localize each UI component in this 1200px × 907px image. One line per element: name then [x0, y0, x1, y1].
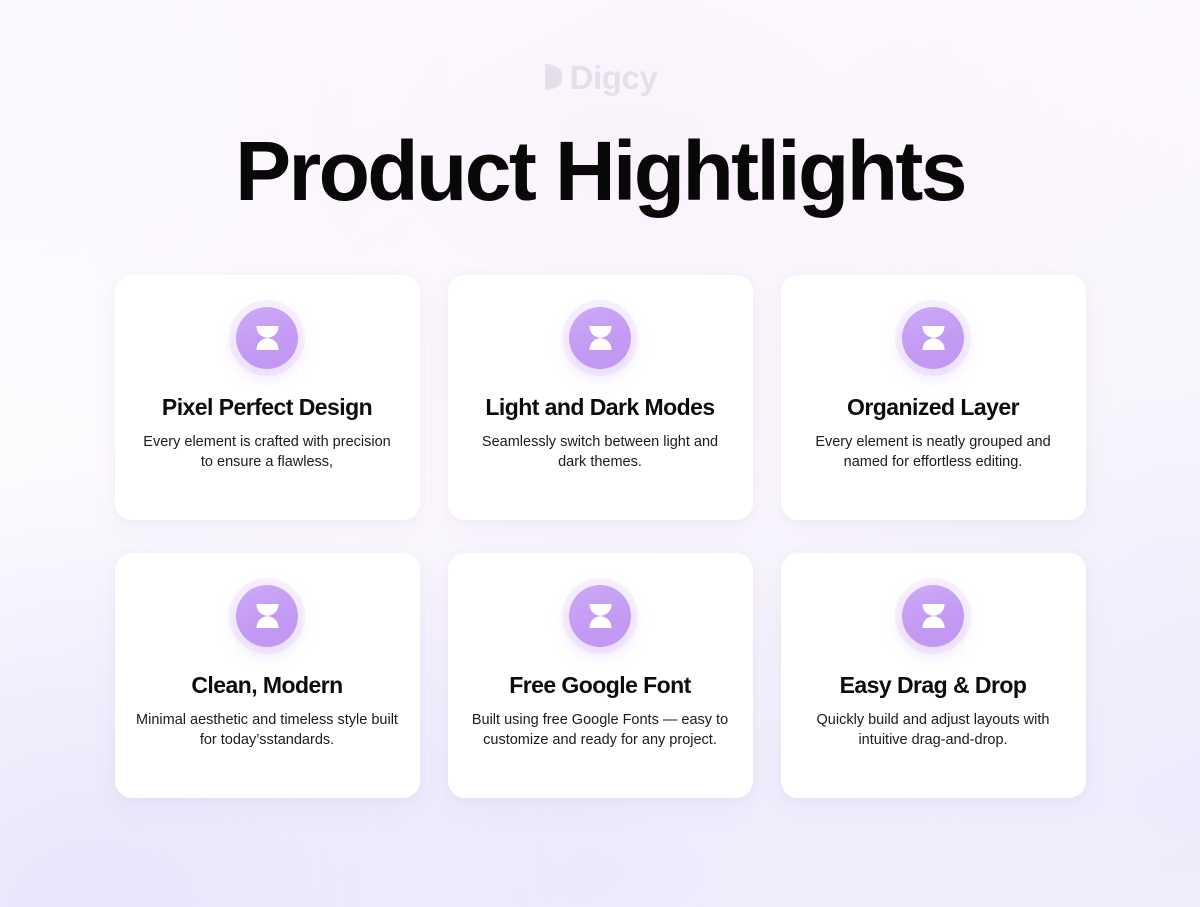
feature-card[interactable]: Pixel Perfect Design Every element is cr…	[115, 275, 420, 520]
feature-card-title: Free Google Font	[509, 672, 691, 698]
feature-card-description: Seamlessly switch between light and dark…	[469, 433, 731, 472]
feature-card-description: Every element is crafted with precision …	[136, 433, 398, 472]
page-root: Digcy Product Hightlights Pixel Perfect …	[0, 0, 1200, 907]
feature-card-description: Every element is neatly grouped and name…	[802, 433, 1064, 472]
feature-card-title: Clean, Modern	[191, 672, 342, 698]
feature-card[interactable]: Free Google Font Built using free Google…	[448, 553, 753, 798]
feature-card-grid: Pixel Perfect Design Every element is cr…	[115, 275, 1085, 798]
feature-card[interactable]: Easy Drag & Drop Quickly build and adjus…	[781, 553, 1086, 798]
hourglass-icon	[902, 585, 964, 647]
feature-card[interactable]: Organized Layer Every element is neatly …	[781, 275, 1086, 520]
hourglass-icon	[236, 307, 298, 369]
feature-card-description: Built using free Google Fonts — easy to …	[469, 711, 731, 750]
hourglass-icon	[902, 307, 964, 369]
page-title: Product Hightlights	[235, 129, 965, 213]
hourglass-icon	[569, 307, 631, 369]
hourglass-icon	[236, 585, 298, 647]
hourglass-icon	[569, 585, 631, 647]
feature-card-title: Light and Dark Modes	[485, 394, 714, 420]
feature-card-description: Minimal aesthetic and timeless style bui…	[136, 711, 398, 750]
feature-card-title: Easy Drag & Drop	[840, 672, 1027, 698]
play-arrow-d-mark-icon	[543, 62, 569, 92]
feature-card-title: Pixel Perfect Design	[162, 394, 372, 420]
feature-card-description: Quickly build and adjust layouts with in…	[802, 711, 1064, 750]
brand-name: Digcy	[570, 61, 658, 94]
feature-card-title: Organized Layer	[847, 394, 1019, 420]
feature-card[interactable]: Light and Dark Modes Seamlessly switch b…	[448, 275, 753, 520]
feature-card[interactable]: Clean, Modern Minimal aesthetic and time…	[115, 553, 420, 798]
brand-logo: Digcy	[543, 57, 658, 97]
